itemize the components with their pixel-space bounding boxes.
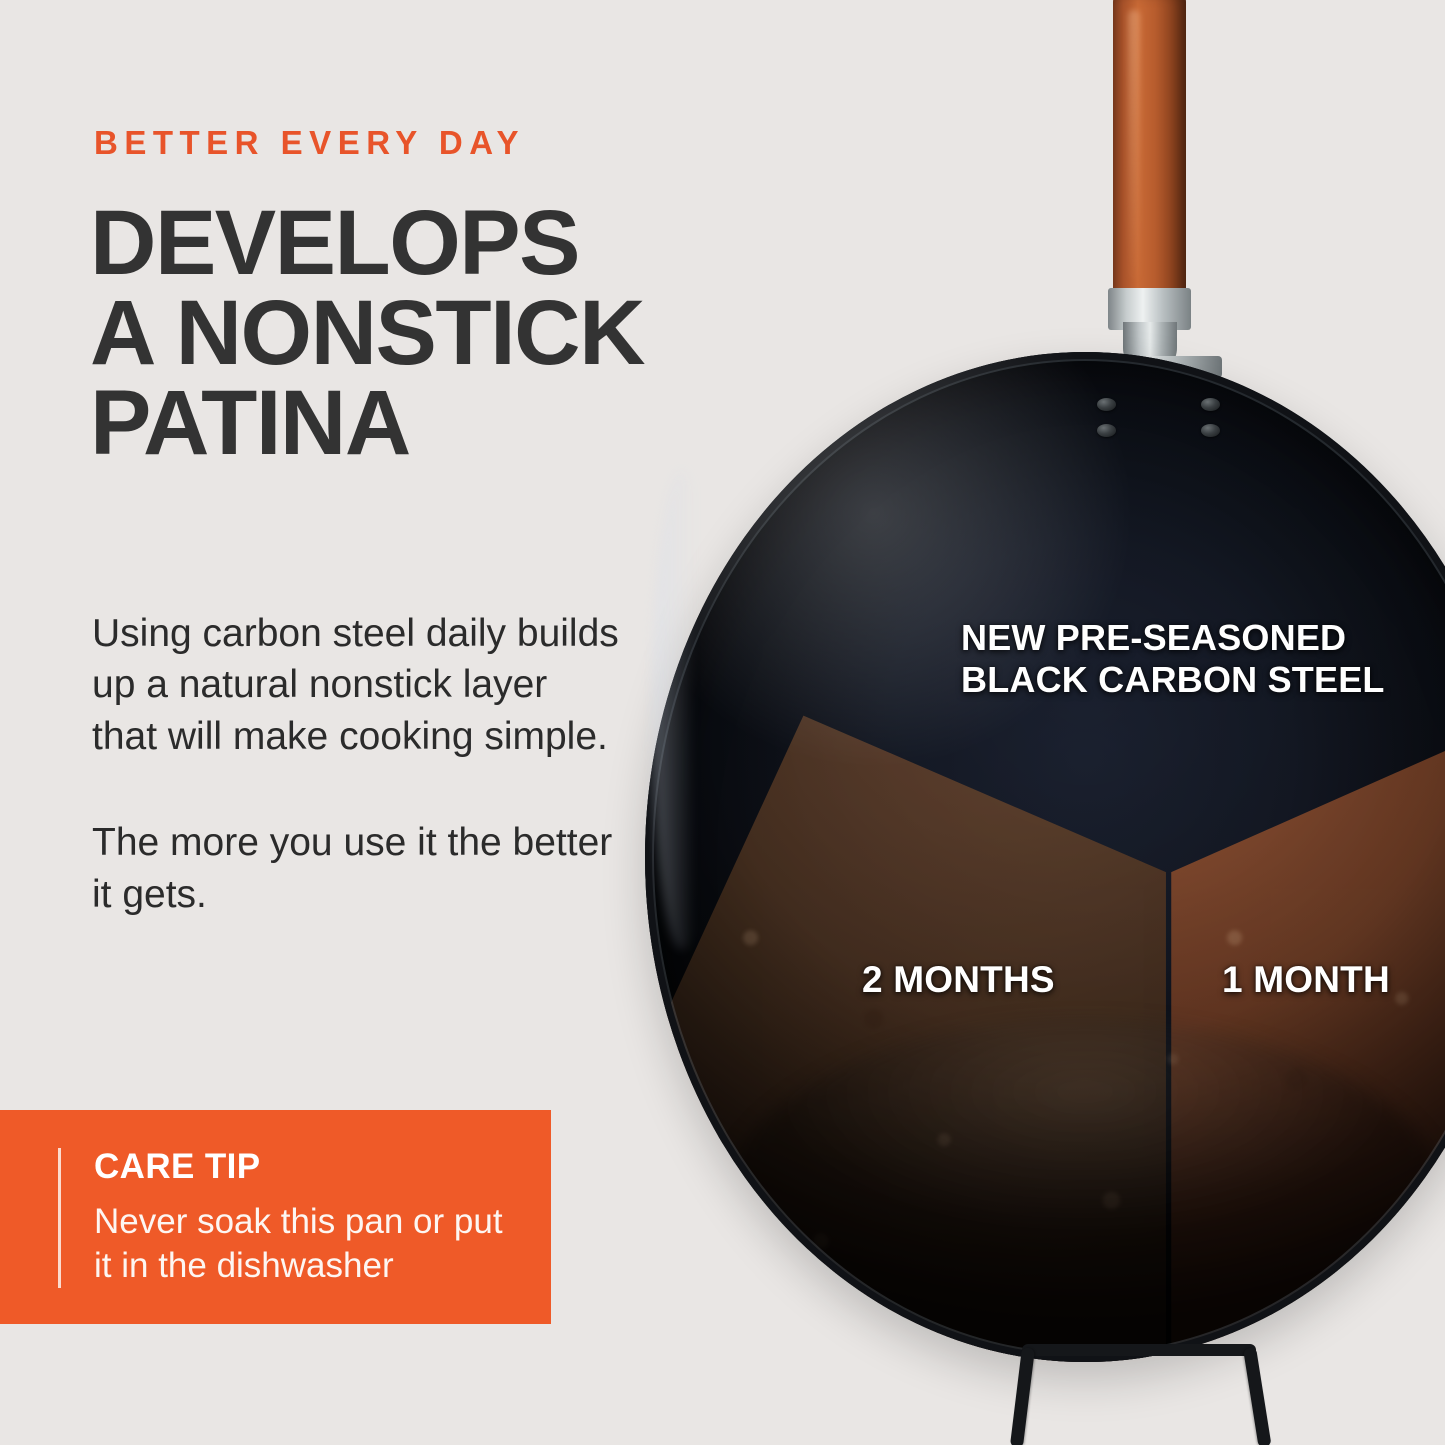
infographic-canvas: NEW PRE-SEASONED BLACK CARBON STEEL 2 MO… <box>0 0 1445 1445</box>
wire-stand-leg-right <box>1243 1347 1271 1445</box>
headline-line-1: DEVELOPS <box>90 198 850 288</box>
handle-tang <box>1123 322 1177 374</box>
rivet-icon <box>1097 398 1116 411</box>
label-line-1: NEW PRE-SEASONED <box>961 617 1385 659</box>
care-tip-text: Never soak this pan or put it in the dis… <box>94 1200 524 1288</box>
pan-bottom-curve-shadow <box>715 1019 1445 1362</box>
body-copy: Using carbon steel daily builds up a nat… <box>92 608 622 920</box>
page-title: DEVELOPS A NONSTICK PATINA <box>90 198 850 468</box>
pan-rim <box>645 352 1445 1362</box>
label-one-month: 1 MONTH <box>1222 959 1390 1001</box>
care-tip-body: Never soak this pan or put it in the dis… <box>94 1200 524 1288</box>
care-tip-title: CARE TIP <box>94 1147 261 1187</box>
headline-line-3: PATINA <box>90 378 850 468</box>
kicker-text: BETTER EVERY DAY <box>94 124 525 162</box>
pan-inner-shading <box>645 352 1445 1362</box>
body-paragraph-2: The more you use it the better it gets. <box>92 817 622 920</box>
wire-stand-leg-left <box>1010 1347 1035 1445</box>
handle-mounting-plate <box>1080 356 1222 378</box>
pan-body <box>645 352 1445 1362</box>
patina-wedge-one-month <box>645 352 1445 1362</box>
handle-highlight <box>1128 10 1140 280</box>
body-paragraph-1: Using carbon steel daily builds up a nat… <box>92 608 622 762</box>
steel-ferrule <box>1108 288 1191 330</box>
pan-gloss-highlight <box>645 352 1445 1362</box>
wooden-handle <box>1113 0 1186 307</box>
wire-stand-bar <box>1022 1344 1256 1356</box>
rivet-icon <box>1201 424 1220 437</box>
care-tip-callout: CARE TIP Never soak this pan or put it i… <box>0 1110 551 1324</box>
label-two-months: 2 MONTHS <box>862 959 1055 1001</box>
label-pre-seasoned-carbon-steel: NEW PRE-SEASONED BLACK CARBON STEEL <box>961 617 1385 702</box>
care-tip-divider <box>58 1148 61 1288</box>
rivet-icon <box>1201 398 1220 411</box>
rivet-icon <box>1097 424 1116 437</box>
headline-line-2: A NONSTICK <box>90 288 850 378</box>
label-line-2: BLACK CARBON STEEL <box>961 659 1385 701</box>
patina-wedge-two-months <box>645 352 1445 1362</box>
pan-left-edge-highlight <box>652 470 712 950</box>
patina-texture-overlay <box>645 352 1445 1362</box>
